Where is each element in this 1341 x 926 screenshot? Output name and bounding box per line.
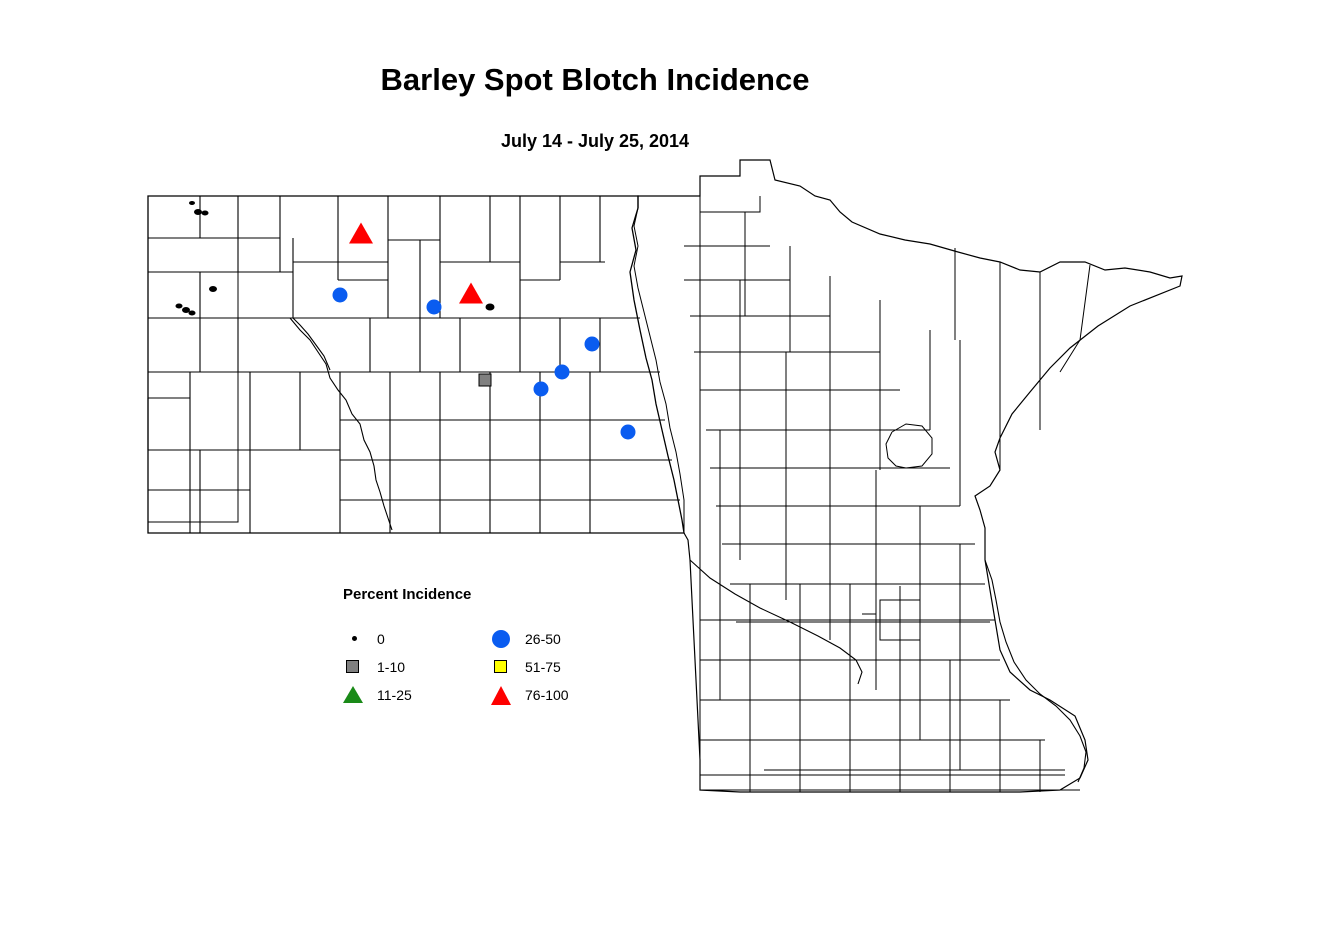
incidence-marker-zero — [189, 201, 195, 205]
red-triangle-icon — [491, 684, 517, 706]
map-canvas — [0, 0, 1341, 926]
yellow-square-swatch — [494, 660, 507, 673]
legend-label: 0 — [377, 631, 385, 647]
incidence-marker-26-50 — [333, 288, 348, 303]
incidence-marker-26-50 — [621, 425, 636, 440]
incidence-marker-26-50 — [427, 300, 442, 315]
green-triangle-swatch — [343, 686, 363, 703]
legend: Percent Incidence 01-1011-2526-5051-7576… — [343, 586, 603, 716]
incidence-marker-26-50 — [555, 365, 570, 380]
map-page: Barley Spot Blotch Incidence July 14 - J… — [0, 0, 1341, 926]
blue-circle-icon — [491, 628, 517, 650]
incidence-marker-76-100 — [459, 283, 483, 304]
red-triangle-swatch — [491, 686, 511, 705]
gray-square-swatch — [346, 660, 359, 673]
incidence-marker-1-10 — [479, 374, 492, 387]
incidence-marker-zero — [486, 304, 495, 311]
incidence-marker-zero — [189, 311, 196, 316]
incidence-marker-zero — [209, 286, 217, 292]
minnesota-counties — [634, 160, 1182, 792]
incidence-marker-26-50 — [534, 382, 549, 397]
incidence-marker-zero — [202, 211, 209, 216]
incidence-marker-26-50 — [585, 337, 600, 352]
north-dakota-counties — [148, 196, 684, 533]
yellow-square-icon — [491, 656, 517, 678]
county-map-svg — [0, 0, 1341, 926]
small-black-dot-swatch — [352, 636, 357, 641]
incidence-marker-76-100 — [349, 223, 373, 244]
legend-title: Percent Incidence — [343, 586, 471, 603]
green-triangle-icon — [343, 684, 369, 706]
legend-label: 76-100 — [525, 687, 569, 703]
legend-label: 26-50 — [525, 631, 561, 647]
legend-label: 51-75 — [525, 659, 561, 675]
legend-label: 11-25 — [377, 687, 412, 703]
blue-circle-swatch — [492, 630, 510, 648]
small-black-dot-icon — [343, 628, 369, 650]
legend-label: 1-10 — [377, 659, 405, 675]
gray-square-icon — [343, 656, 369, 678]
mn-county-lines — [634, 196, 1090, 792]
